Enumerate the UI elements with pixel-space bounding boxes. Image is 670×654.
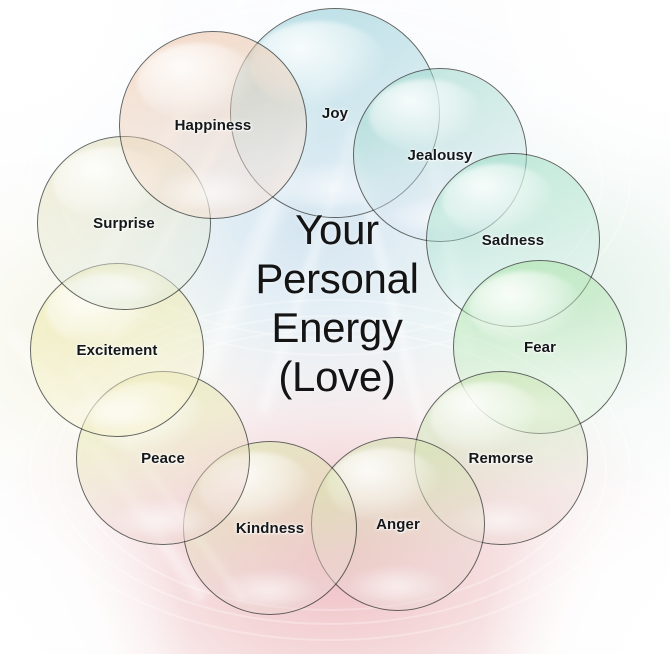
bubble-label-fear: Fear bbox=[453, 339, 627, 356]
bubble-label-surprise: Surprise bbox=[37, 215, 211, 232]
center-title-line: Energy bbox=[212, 303, 462, 352]
bubble-label-happiness: Happiness bbox=[119, 117, 307, 134]
bubble-highlight bbox=[369, 79, 483, 151]
center-title-line: Your bbox=[212, 205, 462, 254]
bubble-label-peace: Peace bbox=[76, 450, 250, 467]
energy-bubble-diagram: JoyJealousySadnessFearRemorseAngerKindne… bbox=[0, 0, 670, 654]
center-title-line: Personal bbox=[212, 254, 462, 303]
bubble-lower-highlight bbox=[215, 568, 322, 606]
bubble-lower-highlight bbox=[108, 498, 215, 536]
bubble-happiness[interactable]: Happiness bbox=[119, 31, 307, 219]
bubble-label-excitement: Excitement bbox=[30, 342, 204, 359]
bubble-highlight bbox=[469, 271, 583, 343]
bubble-highlight bbox=[137, 43, 260, 121]
bubble-lower-highlight bbox=[69, 263, 176, 301]
center-title-line: (Love) bbox=[212, 352, 462, 401]
bubble-lower-highlight bbox=[153, 168, 268, 209]
bubble-lower-highlight bbox=[62, 390, 169, 428]
bubble-lower-highlight bbox=[343, 564, 450, 602]
center-title: YourPersonalEnergy(Love) bbox=[212, 205, 462, 401]
